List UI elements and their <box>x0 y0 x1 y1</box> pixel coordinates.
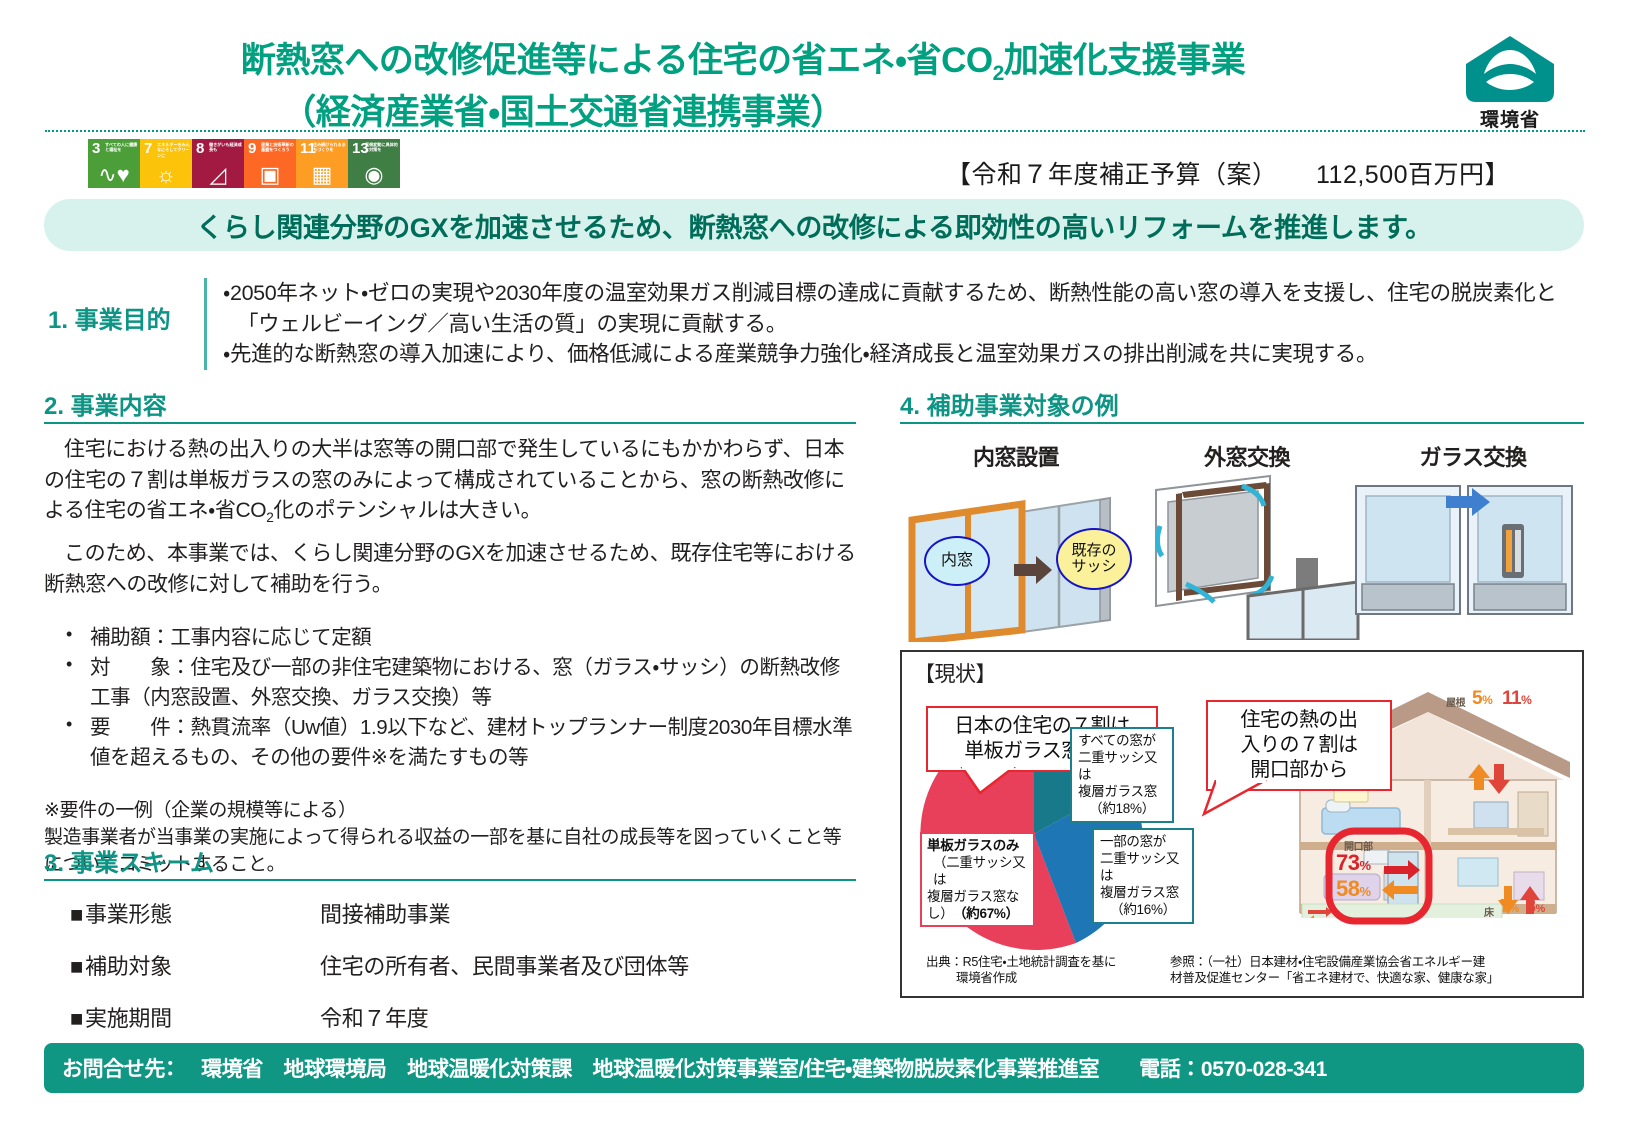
page-title: 断熱窓への改修促進等による住宅の省エネ・省CO2加速化支援事業 <box>78 38 1408 88</box>
pie-label-line2: 二重サッシ又は <box>1100 851 1186 885</box>
section-3-scheme: 3. 事業スキーム ■事業形態 間接補助事業 ■補助対象 住宅の所有者、民間事業… <box>44 843 856 1053</box>
sdg-number: 8 <box>196 141 204 156</box>
callout-line-1: 住宅の熱の出 <box>1216 708 1382 733</box>
para2-text: このため、本事業では、くらし関連分野のGXを加速させるため、既存住宅等における断… <box>44 542 856 596</box>
section-2-paragraph-1: 住宅における熱の出入りの大半は窓等の開口部で発生しているにもかかわらず、日本の住… <box>44 435 856 528</box>
pie-label-line2: 二重サッシ又は <box>1078 750 1166 784</box>
example-titles-row: 内窓設置 外窓交換 ガラス交換 <box>900 440 1584 472</box>
source-line-1: 出典：R5住宅・土地統計調査を基に <box>926 954 1156 970</box>
sdg-label: 産業と技術革新の基盤をつくろう <box>261 142 294 153</box>
existing-sash-bubble: 既存の サッシ <box>1056 528 1132 590</box>
scheme-value: 令和７年度 <box>314 1001 856 1033</box>
page-title-part1: 断熱窓への改修促進等による住宅の省エネ・省CO <box>241 41 993 80</box>
callout-house-opening: 住宅の熱の出 入りの７割は 開口部から <box>1206 700 1392 791</box>
pie-label-line1: 一部の窓が <box>1100 834 1186 851</box>
contact-telephone: 電話：0570-028-341 <box>1099 1053 1327 1083</box>
pie-source-note: 出典：R5住宅・土地統計調査を基に 環境省作成 <box>926 954 1156 987</box>
source-line-2: 環境省作成 <box>926 970 1156 986</box>
section-2-bullet: 要 件：熱貫流率（Uw値）1.9以下など、建材トップランナー制度2030年目標水… <box>44 713 856 772</box>
example-title-glass: ガラス交換 <box>1362 440 1584 472</box>
scheme-table: ■事業形態 間接補助事業 ■補助対象 住宅の所有者、民間事業者及び団体等 ■実施… <box>44 897 856 1033</box>
section-2-bullet: 補助額：工事内容に応じて定額 <box>44 623 856 653</box>
bullet-square-icon: ■ <box>70 1006 83 1031</box>
section-2-contents: 2. 事業内容 住宅における熱の出入りの大半は窓等の開口部で発生しているにもかか… <box>44 386 856 879</box>
reference-line-1: 参照：（一社）日本建材・住宅設備産業協会省エネルギー建 <box>1170 954 1582 970</box>
pie-label-line2: （二重サッシ又は <box>927 854 1028 888</box>
sdg-number: 3 <box>92 141 100 156</box>
example-figures: 内窓 既存の サッシ <box>900 478 1584 648</box>
scheme-row: ■補助対象 住宅の所有者、民間事業者及び団体等 <box>44 949 856 981</box>
highlight-banner-text: くらし関連分野のGXを加速させるため、断熱窓への改修による即効性の高いリフォーム… <box>196 206 1432 245</box>
scheme-row: ■実施期間 令和７年度 <box>44 1001 856 1033</box>
callout-line-2: 入りの７割は <box>1216 733 1382 758</box>
pie-label-percent: （約16%） <box>1100 902 1186 919</box>
moe-mark-icon <box>1464 34 1556 104</box>
scheme-key: ■事業形態 <box>44 897 314 929</box>
pie-label-line3: 複層ガラス窓 <box>1100 885 1186 902</box>
pie-label-partial-double: 一部の窓が 二重サッシ又は 複層ガラス窓 （約16%） <box>1092 828 1194 924</box>
section-1-body: 2050年ネット・ゼロの実現や2030年度の温室効果ガス削減目標の達成に貢献する… <box>204 278 1584 370</box>
house-part-floor-label: 床 <box>1484 904 1494 919</box>
scheme-key-label: 実施期間 <box>85 1006 172 1031</box>
current-status-box: 【現状】 日本の住宅の７割は 単板ガラス窓のみ 単板ガラスのみ （二重サッシ又は… <box>900 650 1584 998</box>
sdg-label: すべての人に健康と福祉を <box>105 142 138 153</box>
section-4-divider <box>900 422 1584 424</box>
scheme-value: 間接補助事業 <box>314 897 856 929</box>
section-1-heading: 1. 事業目的 <box>44 278 204 370</box>
co2-subscript: 2 <box>993 62 1004 85</box>
inner-window-bubble-text: 内窓 <box>941 552 973 569</box>
budget-amount: 【令和７年度補正予算（案） 112,500百万円】 <box>0 155 1510 191</box>
header-title-block: 断熱窓への改修促進等による住宅の省エネ・省CO2加速化支援事業 （経済産業省・国… <box>78 38 1408 136</box>
page-subtitle: （経済産業省・国土交通省連携事業） <box>78 90 1408 136</box>
sdg-number: 7 <box>144 141 152 156</box>
house-roof-inflow: 11% <box>1502 688 1531 710</box>
ministry-logo: 環境省 <box>1445 34 1575 132</box>
pie-label-single-glass: 単板ガラスのみ （二重サッシ又は 複層ガラス窓な し） （約67%） <box>920 832 1035 927</box>
callout-tail-house-icon <box>1194 780 1274 820</box>
header-divider <box>45 130 1585 132</box>
existing-sash-line1: 既存の <box>1071 543 1116 559</box>
callout-tail-icon <box>960 767 1020 795</box>
pie-label-line1: すべての窓が <box>1078 733 1166 750</box>
scheme-key: ■実施期間 <box>44 1001 314 1033</box>
scheme-row: ■事業形態 間接補助事業 <box>44 897 856 929</box>
scheme-key: ■補助対象 <box>44 949 314 981</box>
section-2-heading: 2. 事業内容 <box>44 386 856 421</box>
pie-label-line3: 複層ガラス窓 <box>1078 784 1166 801</box>
sdg-label: 働きがいも経済成長も <box>209 142 242 153</box>
bullet-square-icon: ■ <box>70 902 83 927</box>
section-1-bullet: 2050年ネット・ゼロの実現や2030年度の温室効果ガス削減目標の達成に貢献する… <box>223 278 1584 339</box>
section-4-heading: 4. 補助事業対象の例 <box>900 386 1584 421</box>
status-box-title: 【現状】 <box>914 658 996 688</box>
pie-label-line3: 複層ガラス窓な <box>927 888 1028 905</box>
house-part-roof-label: 屋根 <box>1446 694 1465 709</box>
house-floor-inflow: 3% <box>1526 896 1545 917</box>
contact-text: お問合せ先： 環境省 地球環境局 地球温暖化対策課 地球温暖化対策事業室/住宅・… <box>44 1053 1099 1083</box>
house-reference-note: 参照：（一社）日本建材・住宅設備産業協会省エネルギー建 材普及促進センター「省エ… <box>1170 954 1582 987</box>
opening-highlight-ring-icon <box>1324 826 1434 926</box>
para1-part2: 化のポテンシャルは大きい。 <box>273 499 541 522</box>
house-roof-outflow: 5% <box>1472 688 1492 710</box>
highlight-banner: くらし関連分野のGXを加速させるため、断熱窓への改修による即効性の高いリフォーム… <box>44 199 1584 251</box>
pie-label-percent: （約67%） <box>960 906 1019 921</box>
example-title-outer-window: 外窓交換 <box>1132 440 1362 472</box>
contact-footer: お問合せ先： 環境省 地球環境局 地球温暖化対策課 地球温暖化対策事業室/住宅・… <box>44 1043 1584 1093</box>
glass-exchange-figure-icon <box>1352 484 1576 652</box>
sdg-label: 住み続けられるまちづくりを <box>313 142 346 153</box>
sdg-number: 9 <box>248 141 256 156</box>
pie-label-line4: し） （約67%） <box>927 905 1028 922</box>
section-1-purpose: 1. 事業目的 2050年ネット・ゼロの実現や2030年度の温室効果ガス削減目標… <box>44 278 1584 370</box>
reference-line-2: 材普及促進センター「省エネ建材で、快適な家、健康な家」 <box>1170 970 1582 986</box>
example-title-inner-window: 内窓設置 <box>900 440 1132 472</box>
page-title-part2: 加速化支援事業 <box>1004 41 1246 80</box>
section-1-bullet: 先進的な断熱窓の導入加速により、価格低減による産業競争力強化・経済成長と温室効果… <box>223 339 1584 370</box>
slide-page: 断熱窓への改修促進等による住宅の省エネ・省CO2加速化支援事業 （経済産業省・国… <box>0 0 1625 1125</box>
section-2-divider <box>44 422 856 424</box>
sdg-label: 気候変動に具体的な対策を <box>365 142 398 153</box>
existing-sash-line2: サッシ <box>1071 559 1116 575</box>
section-2-paragraph-2: このため、本事業では、くらし関連分野のGXを加速させるため、既存住宅等における断… <box>44 539 856 600</box>
inner-window-bubble: 内窓 <box>924 536 990 586</box>
scheme-key-label: 補助対象 <box>85 954 172 979</box>
ministry-label: 環境省 <box>1445 105 1575 132</box>
pie-label-title: 単板ガラスのみ <box>927 837 1028 854</box>
bullet-square-icon: ■ <box>70 954 83 979</box>
section-3-heading: 3. 事業スキーム <box>44 843 856 878</box>
section-4-examples: 4. 補助事業対象の例 内窓設置 外窓交換 ガラス交換 <box>900 386 1584 648</box>
pie-label-all-double: すべての窓が 二重サッシ又は 複層ガラス窓 （約18%） <box>1070 727 1174 823</box>
pie-label-percent: （約18%） <box>1078 801 1166 818</box>
footnote-line-1: ※要件の一例（企業の規模等による） <box>44 798 856 825</box>
outer-window-figure-icon <box>1126 472 1362 640</box>
section-2-bullet-list: 補助額：工事内容に応じて定額 対 象：住宅及び一部の非住宅建築物における、窓（ガ… <box>44 623 856 773</box>
house-floor-outflow: 7% <box>1500 896 1519 917</box>
scheme-value: 住宅の所有者、民間事業者及び団体等 <box>314 949 856 981</box>
scheme-key-label: 事業形態 <box>85 902 172 927</box>
section-3-divider <box>44 879 856 881</box>
section-2-bullet: 対 象：住宅及び一部の非住宅建築物における、窓（ガラス・サッシ）の断熱改修工事（… <box>44 653 856 712</box>
